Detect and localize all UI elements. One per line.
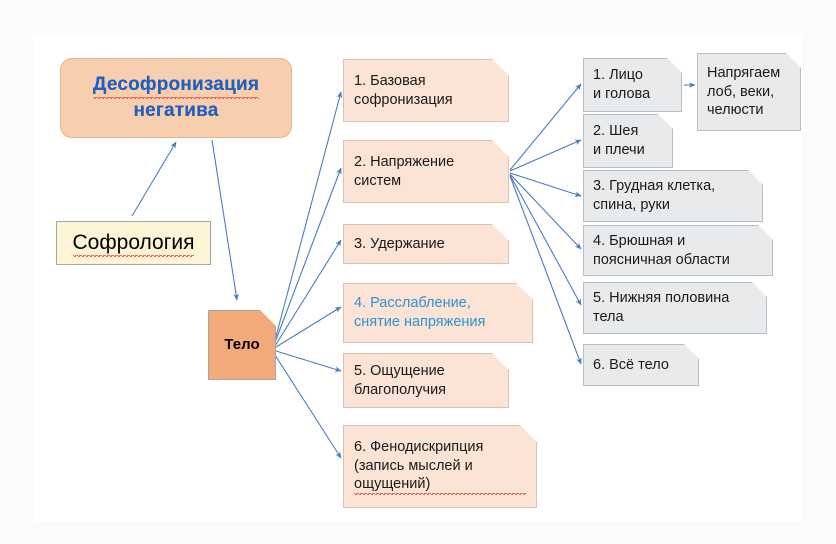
zone-label-2: 2. Шея и плечи (593, 122, 663, 160)
detail-node-label: Напрягаем лоб, веки, челюсти (707, 64, 791, 121)
stage-node-6[interactable]: 6. Фенодискрипция (запись мыслей и ощуще… (343, 425, 537, 508)
source-node-sofrologiya[interactable]: Софрология (56, 221, 211, 265)
title-node[interactable]: Десофронизация негатива (60, 58, 292, 138)
zone-node-5[interactable]: 5. Нижняя половина тела (583, 282, 767, 334)
stage-node-4[interactable]: 4. Расслабление, снятие напряжения (343, 283, 533, 343)
stage-label-5: 5. Ощущение благополучия (354, 362, 498, 400)
zone-label-5: 5. Нижняя половина тела (593, 289, 757, 327)
stage-node-3[interactable]: 3. Удержание (343, 224, 509, 264)
stage-label-6: 6. Фенодискрипция (запись мыслей и ощуще… (354, 438, 526, 496)
zone-label-4: 4. Брюшная и поясничная области (593, 232, 763, 270)
stage-node-5[interactable]: 5. Ощущение благополучия (343, 353, 509, 408)
zone-node-3[interactable]: 3. Грудная клетка, спина, руки (583, 170, 763, 222)
stage-label-4: 4. Расслабление, снятие напряжения (354, 294, 522, 332)
zone-node-6[interactable]: 6. Всё тело (583, 344, 699, 386)
stage-label-1: 1. Базовая софронизация (354, 72, 498, 110)
stage-node-2[interactable]: 2. Напряжение систем (343, 140, 509, 203)
stage-label-3: 3. Удержание (354, 235, 498, 254)
stage-node-1[interactable]: 1. Базовая софронизация (343, 59, 509, 122)
zone-label-3: 3. Грудная клетка, спина, руки (593, 177, 753, 215)
source-node-label: Софрология (73, 229, 195, 257)
title-line-1: Десофронизация (93, 73, 259, 99)
zone-label-1: 1. Лицо и голова (593, 66, 672, 104)
zone-node-1[interactable]: 1. Лицо и голова (583, 58, 682, 112)
diagram-canvas: Десофронизация негатива Софрология Тело … (0, 0, 836, 544)
zone-label-6: 6. Всё тело (593, 356, 689, 375)
zone-node-4[interactable]: 4. Брюшная и поясничная области (583, 225, 773, 276)
body-node-telo[interactable]: Тело (208, 310, 276, 380)
detail-node-napryagaem[interactable]: Напрягаем лоб, веки, челюсти (697, 53, 801, 131)
stage-label-2: 2. Напряжение систем (354, 153, 498, 191)
zone-node-2[interactable]: 2. Шея и плечи (583, 114, 673, 168)
body-node-label: Тело (224, 335, 259, 355)
title-line-2: негатива (133, 99, 218, 124)
